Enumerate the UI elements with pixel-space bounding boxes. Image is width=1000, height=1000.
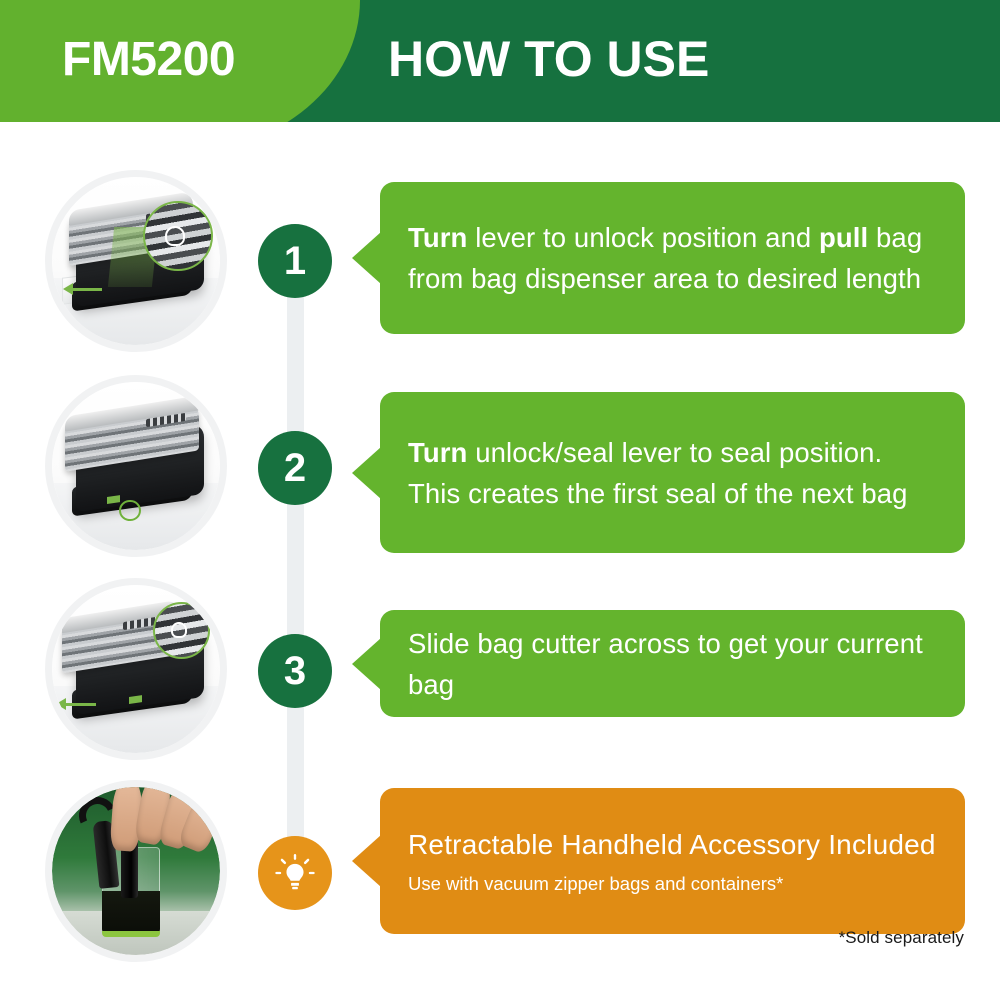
page-title: HOW TO USE — [388, 28, 709, 90]
header-banner: FM5200 HOW TO USE — [0, 0, 1000, 122]
lightbulb-icon — [258, 836, 332, 910]
step-row-2: 2 Turn unlock/seal lever to seal positio… — [0, 375, 1000, 575]
step-badge-3: 3 — [258, 634, 332, 708]
step-2-text: Turn unlock/seal lever to seal position.… — [408, 432, 939, 514]
step-2-thumbnail — [45, 375, 227, 557]
sealer-bag-cutter-photo — [52, 585, 220, 753]
step-1-thumbnail — [45, 170, 227, 352]
step-3-text: Slide bag cutter across to get your curr… — [408, 623, 939, 705]
step-3-thumbnail — [45, 578, 227, 760]
step-card-1: Turn lever to unlock position and pull b… — [380, 182, 965, 334]
step-1-text: Turn lever to unlock position and pull b… — [408, 217, 939, 299]
step-row-3: 3 Slide bag cutter across to get your cu… — [0, 578, 1000, 778]
footnote-sold-separately: *Sold separately — [839, 928, 964, 948]
step-1-bold-pull: pull — [819, 222, 868, 253]
handheld-accessory-photo — [52, 787, 220, 955]
step-card-3: Slide bag cutter across to get your curr… — [380, 610, 965, 717]
tip-thumbnail — [45, 780, 227, 962]
step-2-seg-1: unlock/seal lever to seal position. This… — [408, 437, 908, 509]
how-to-use-infographic: FM5200 HOW TO USE 1 Turn lever to unlock — [0, 0, 1000, 1000]
tip-title: Retractable Handheld Accessory Included — [408, 826, 939, 864]
tip-row: Retractable Handheld Accessory Included … — [0, 780, 1000, 980]
step-2-bold-turn: Turn — [408, 437, 467, 468]
step-1-bold-turn: Turn — [408, 222, 467, 253]
sealer-seal-position-photo — [52, 382, 220, 550]
step-card-2: Turn unlock/seal lever to seal position.… — [380, 392, 965, 553]
step-1-seg-1: lever to unlock position and — [467, 222, 819, 253]
product-model-label: FM5200 — [62, 30, 235, 90]
step-badge-1: 1 — [258, 224, 332, 298]
tip-card: Retractable Handheld Accessory Included … — [380, 788, 965, 934]
tip-subtitle: Use with vacuum zipper bags and containe… — [408, 870, 939, 897]
step-row-1: 1 Turn lever to unlock position and pull… — [0, 170, 1000, 370]
step-badge-2: 2 — [258, 431, 332, 505]
sealer-unlock-lever-photo — [52, 177, 220, 345]
